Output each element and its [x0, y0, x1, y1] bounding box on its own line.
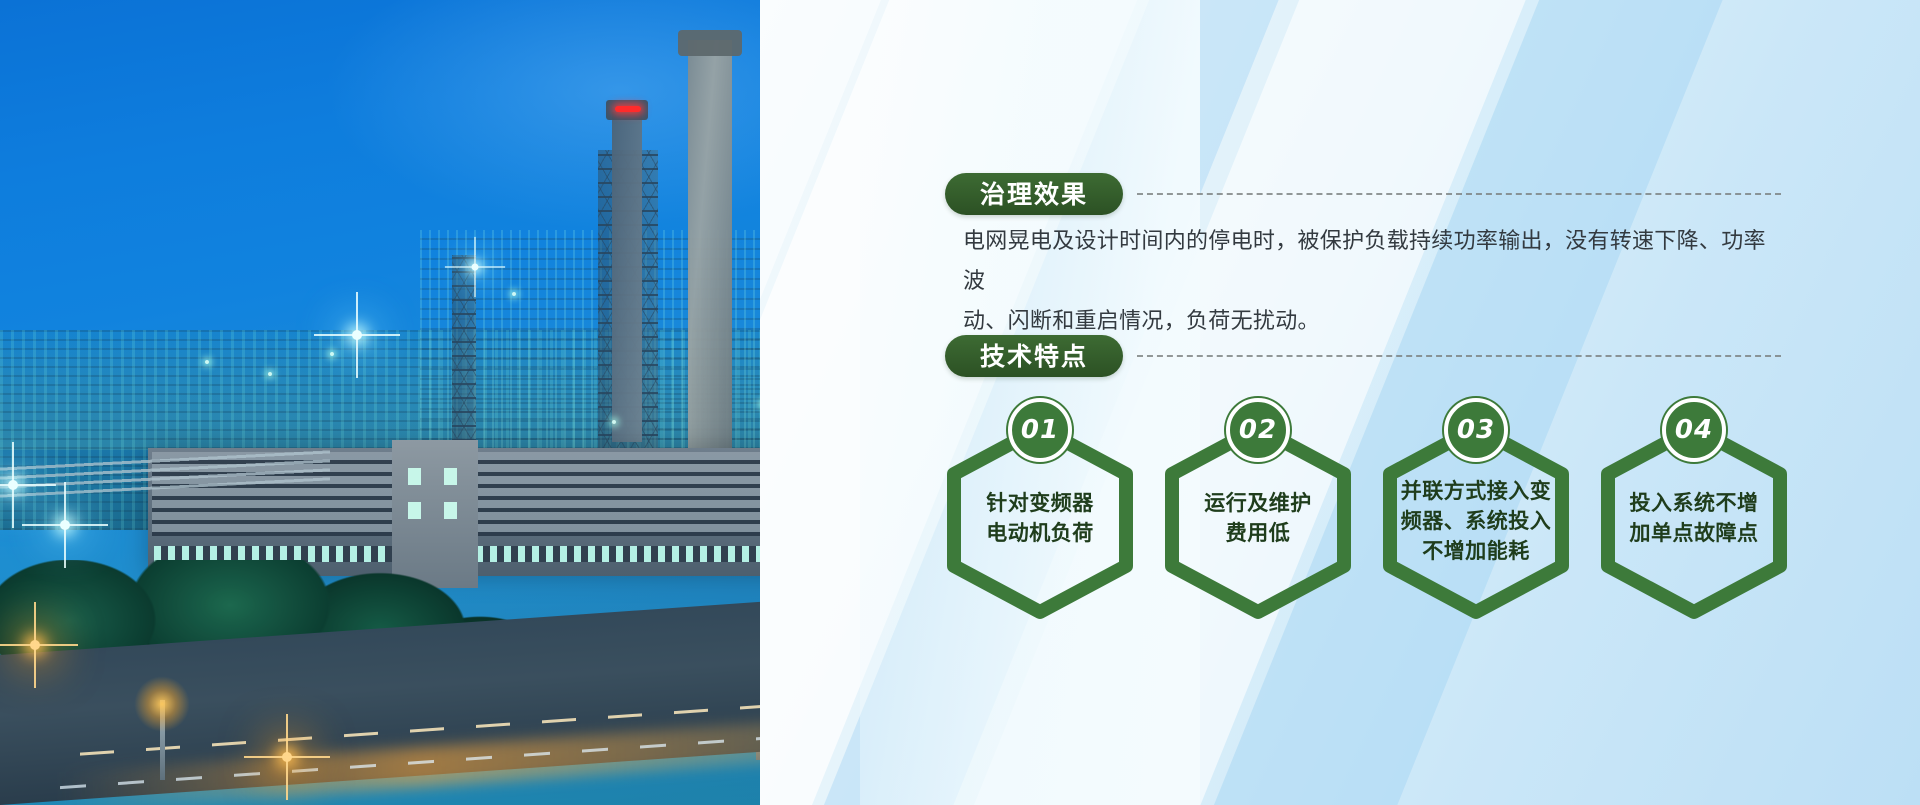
feature-number: 03	[1457, 417, 1495, 443]
section-header-technical-features: 技术特点	[945, 335, 1781, 377]
feature-hexagon-03[interactable]: 03 并联方式接入变 频器、系统投入 不增加能耗	[1376, 398, 1576, 620]
feature-text-line: 针对变频器	[940, 488, 1140, 518]
feature-hexagon-04[interactable]: 04 投入系统不增 加单点故障点	[1594, 398, 1794, 620]
feature-hexagon-02[interactable]: 02 运行及维护 费用低	[1158, 398, 1358, 620]
feature-number-badge: 01	[1008, 398, 1072, 462]
feature-text-line: 费用低	[1158, 518, 1358, 548]
feature-number-badge: 02	[1226, 398, 1290, 462]
feature-text-line: 加单点故障点	[1594, 518, 1794, 548]
feature-number: 04	[1675, 417, 1713, 443]
dashed-rule	[1137, 355, 1781, 357]
promo-banner: 治理效果 电网晃电及设计时间内的停电时，被保护负载持续功率输出，没有转速下降、功…	[0, 0, 1920, 805]
feature-text-line: 不增加能耗	[1376, 536, 1576, 566]
feature-text-line: 运行及维护	[1158, 488, 1358, 518]
feature-number: 01	[1021, 417, 1059, 443]
feature-number-badge: 04	[1662, 398, 1726, 462]
feature-text-line: 投入系统不增	[1594, 488, 1794, 518]
section-label-text: 技术特点	[980, 344, 1088, 369]
paragraph-line-1: 电网晃电及设计时间内的停电时，被保护负载持续功率输出，没有转速下降、功率波	[963, 222, 1781, 302]
feature-text-line: 并联方式接入变	[1376, 476, 1576, 506]
section-label-pill: 技术特点	[945, 335, 1123, 377]
feature-number-badge: 03	[1444, 398, 1508, 462]
feature-text-line: 频器、系统投入	[1376, 506, 1576, 536]
feature-text-line: 电动机负荷	[940, 518, 1140, 548]
feature-text: 针对变频器 电动机负荷	[940, 488, 1140, 548]
section-label-text: 治理效果	[980, 182, 1088, 207]
feature-text: 投入系统不增 加单点故障点	[1594, 488, 1794, 548]
feature-hexagon-row: 01 针对变频器 电动机负荷 02 运行及维护 费用低	[940, 398, 1840, 628]
governance-effect-paragraph: 电网晃电及设计时间内的停电时，被保护负载持续功率输出，没有转速下降、功率波 动、…	[963, 222, 1781, 342]
feature-number: 02	[1239, 417, 1277, 443]
dashed-rule	[1137, 193, 1781, 195]
feature-text: 并联方式接入变 频器、系统投入 不增加能耗	[1376, 476, 1576, 566]
feature-hexagon-01[interactable]: 01 针对变频器 电动机负荷	[940, 398, 1140, 620]
feature-text: 运行及维护 费用低	[1158, 488, 1358, 548]
content-layer: 治理效果 电网晃电及设计时间内的停电时，被保护负载持续功率输出，没有转速下降、功…	[0, 0, 1920, 805]
section-header-governance-effect: 治理效果	[945, 173, 1781, 215]
section-label-pill: 治理效果	[945, 173, 1123, 215]
